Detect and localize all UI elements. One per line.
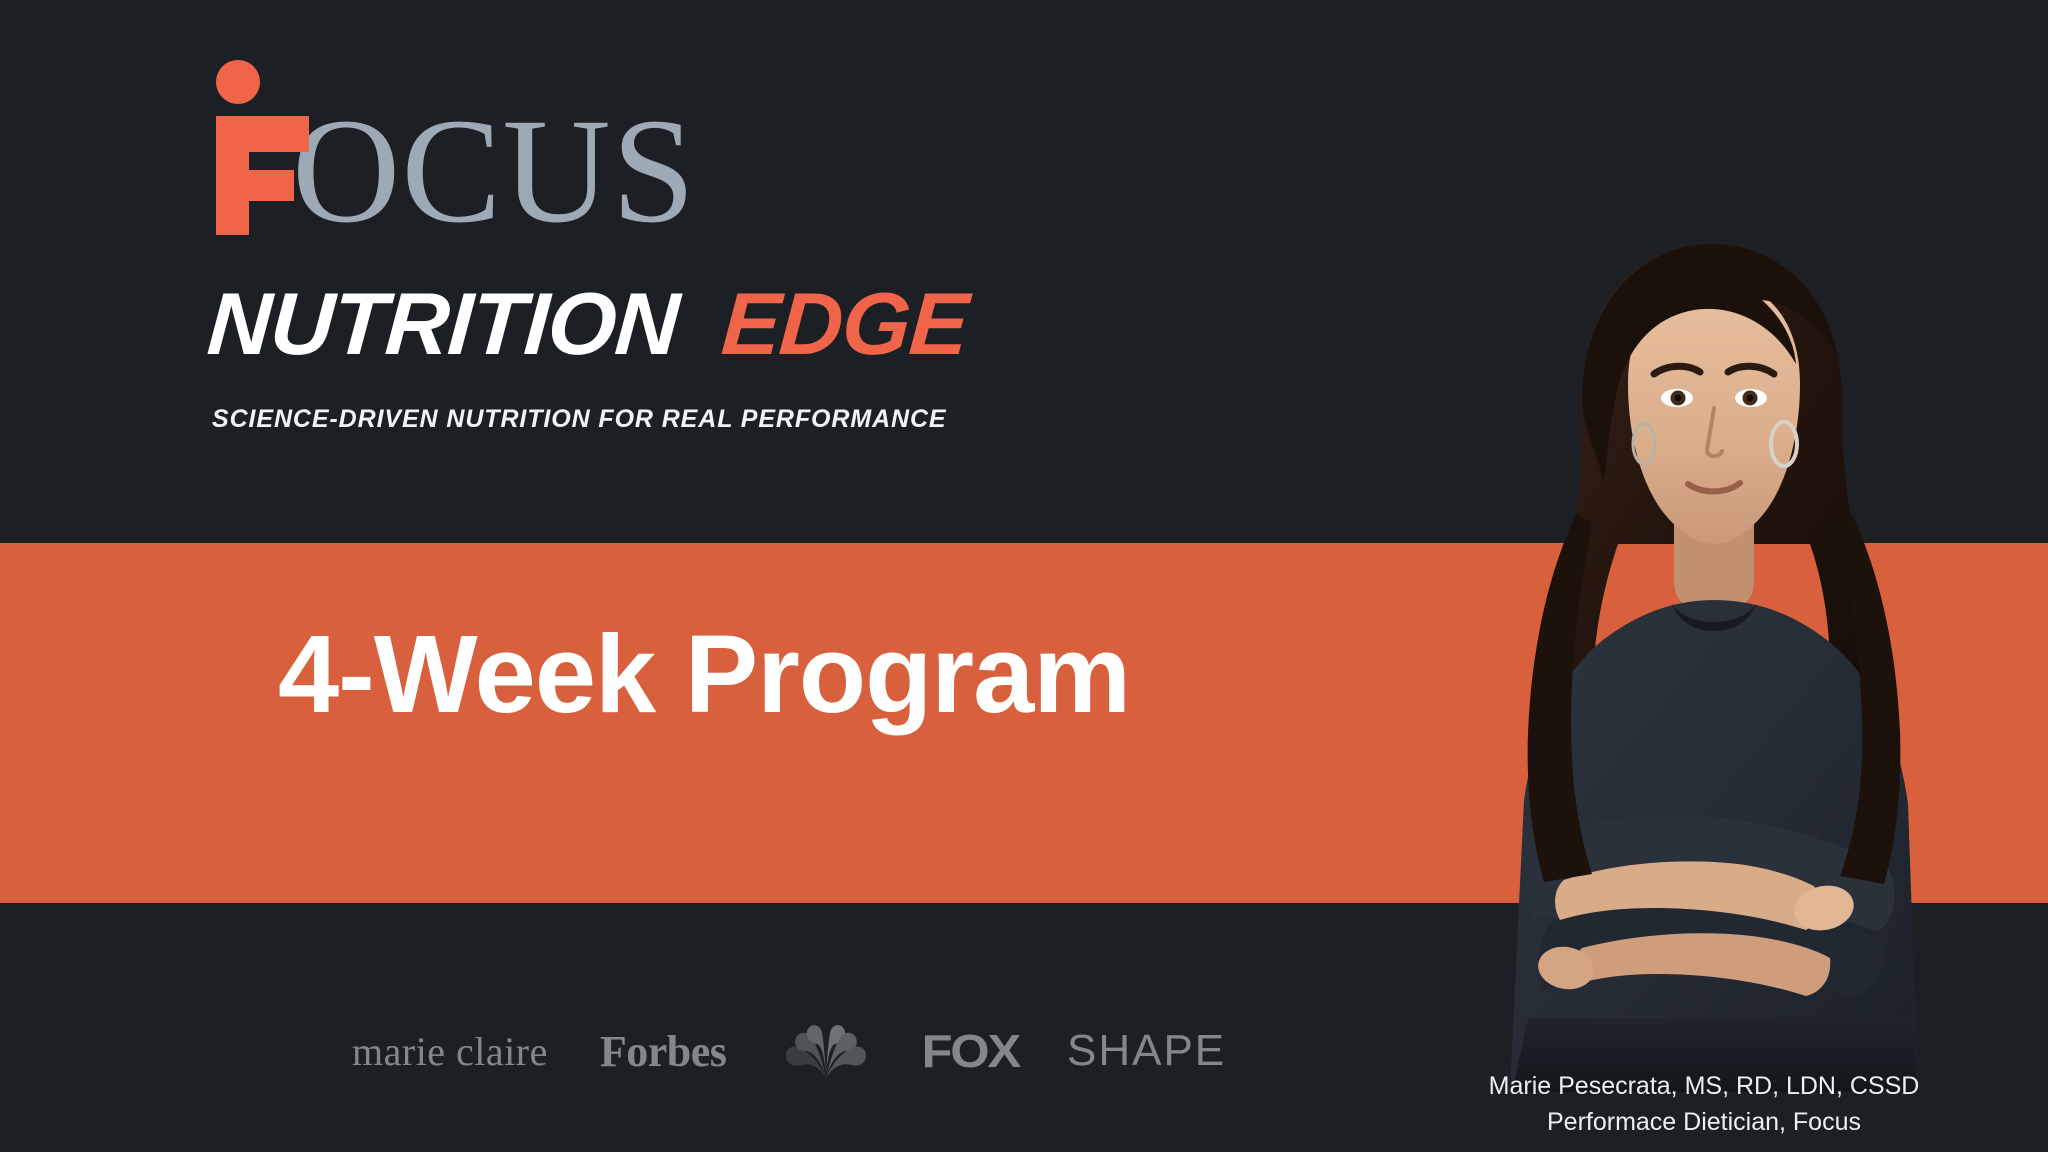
- presenter-credit: Marie Pesecrata, MS, RD, LDN, CSSD Perfo…: [1424, 1069, 1984, 1140]
- brand-word-nutrition: NUTRITION: [205, 280, 681, 368]
- shape-logo: SHAPE: [1067, 1026, 1226, 1076]
- nbc-peacock-icon: [778, 1020, 874, 1082]
- marie-claire-logo: marie claire: [352, 1028, 548, 1075]
- brand-word-edge: EDGE: [719, 280, 971, 368]
- press-logo-row: marie claire Forbes FOX SHAPE: [352, 1020, 1226, 1082]
- brand-tagline: SCIENCE-DRIVEN NUTRITION FOR REAL PERFOR…: [212, 405, 947, 434]
- f-arm-top: [216, 116, 309, 152]
- logo-wordmark: OCUS: [292, 98, 696, 245]
- presenter-photo: [1432, 192, 1992, 1092]
- presenter-name: Marie Pesecrata, MS, RD, LDN, CSSD: [1424, 1069, 1984, 1105]
- f-dot: [216, 60, 260, 104]
- forbes-logo: Forbes: [600, 1026, 727, 1077]
- presenter-title: Performace Dietician, Focus: [1424, 1105, 1984, 1141]
- brand-lockup: NUTRITION EDGE: [205, 280, 971, 368]
- focus-f-icon: [206, 60, 298, 235]
- page-title: 4-Week Program: [278, 620, 1130, 730]
- f-arm-mid: [216, 170, 294, 201]
- brand-logo: OCUS: [206, 60, 696, 245]
- slide-canvas: OCUS NUTRITION EDGE SCIENCE-DRIVEN NUTRI…: [0, 0, 2048, 1152]
- fox-logo: FOX: [922, 1024, 1019, 1078]
